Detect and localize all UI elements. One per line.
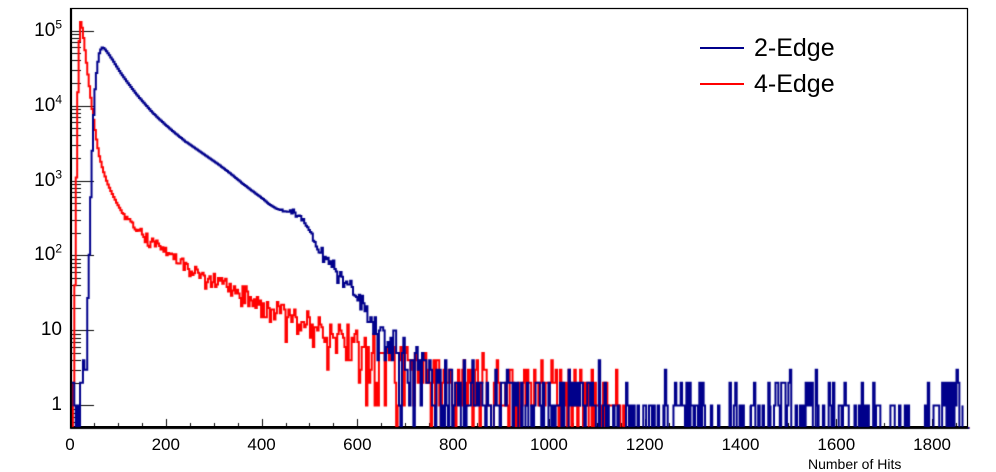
legend-label-2-edge: 2-Edge xyxy=(754,36,835,61)
legend-swatch-4-edge xyxy=(700,83,744,85)
legend-item-4-edge[interactable]: 4-Edge xyxy=(700,66,900,102)
x-axis-title: Number of Hits xyxy=(808,456,901,472)
x-tick-label-6: 1200 xyxy=(605,436,685,453)
legend-item-2-edge[interactable]: 2-Edge xyxy=(700,30,900,66)
x-tick-label-0: 0 xyxy=(30,436,110,453)
y-tick-label-1: 10 xyxy=(41,320,62,339)
legend-swatch-2-edge xyxy=(700,47,744,49)
x-tick-label-9: 1800 xyxy=(892,436,972,453)
x-tick-label-1: 200 xyxy=(126,436,206,453)
x-tick-label-8: 1600 xyxy=(796,436,876,453)
x-tick-label-4: 800 xyxy=(413,436,493,453)
y-tick-label-5: 105 xyxy=(34,21,62,40)
y-tick-label-3: 103 xyxy=(34,171,62,190)
x-tick-label-5: 1000 xyxy=(509,436,589,453)
legend-label-4-edge: 4-Edge xyxy=(754,72,835,97)
y-tick-label-2: 102 xyxy=(34,245,62,264)
chart-root: 110102103104105 020040060080010001200140… xyxy=(0,0,996,472)
y-tick-label-4: 104 xyxy=(34,96,62,115)
x-tick-label-3: 600 xyxy=(317,436,397,453)
y-tick-label-0: 1 xyxy=(51,395,62,414)
x-tick-label-2: 400 xyxy=(222,436,302,453)
chart-legend: 2-Edge 4-Edge xyxy=(700,30,900,102)
x-tick-label-7: 1400 xyxy=(701,436,781,453)
